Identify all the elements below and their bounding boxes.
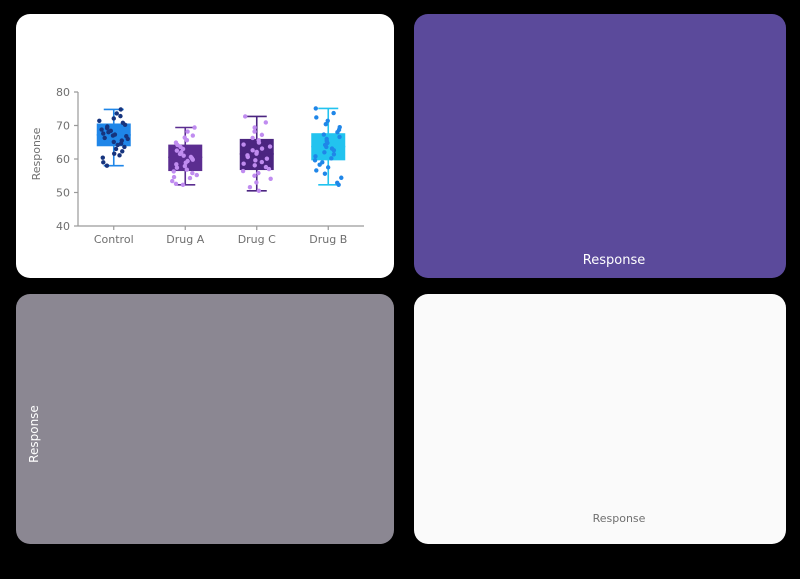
boxplot-data-point: [314, 115, 318, 119]
boxplot-data-point: [268, 177, 272, 181]
boxplot-data-point: [174, 182, 178, 186]
barplot-ylabel: Response: [27, 405, 41, 463]
boxplot-data-point: [331, 111, 335, 115]
boxplot-data-point: [185, 129, 189, 133]
boxplot-data-point: [170, 179, 174, 183]
boxplot-axes: 4050607080ControlDrug ADrug CDrug B: [56, 86, 364, 246]
boxplot-data-point: [260, 160, 264, 164]
boxplot-data-point: [174, 162, 178, 166]
boxplot-data-point: [188, 176, 192, 180]
boxplot-data-point: [124, 134, 128, 138]
boxplot-data-point: [241, 169, 245, 173]
boxplot-data-point: [120, 149, 124, 153]
boxplot-data-point: [101, 160, 105, 164]
boxplot-data-point: [190, 171, 194, 175]
boxplot-y-tick-label: 50: [56, 187, 70, 200]
boxplot-data-point: [314, 106, 318, 110]
boxplot-data-point: [264, 165, 268, 169]
panel-barplot: Response: [16, 294, 394, 544]
boxplot-data-point: [329, 156, 333, 160]
boxplot-data-point: [256, 138, 260, 142]
boxplot-y-tick-label: 40: [56, 220, 70, 233]
boxplot-data-point: [112, 151, 116, 155]
boxplot-data-point: [339, 176, 343, 180]
boxplot-data-point: [255, 150, 259, 154]
errorbar-svg: Response: [414, 14, 786, 278]
boxplot-data-point: [252, 129, 256, 133]
boxplot-data-point: [113, 132, 117, 136]
boxplot-data-point: [322, 132, 326, 136]
violin-svg: Response: [414, 294, 786, 544]
boxplot-body: [97, 106, 346, 193]
boxplot-data-point: [332, 152, 336, 156]
boxplot-data-point: [322, 150, 326, 154]
boxplot-data-point: [117, 153, 121, 157]
boxplot-data-point: [112, 116, 116, 120]
panel-boxplot: 4050607080ControlDrug ADrug CDrug B Resp…: [16, 14, 394, 278]
boxplot-data-point: [250, 148, 254, 152]
boxplot-data-point: [102, 136, 106, 140]
boxplot-data-point: [175, 148, 179, 152]
boxplot-data-point: [112, 140, 116, 144]
boxplot-data-point: [99, 127, 103, 131]
boxplot-data-point: [97, 119, 101, 123]
violin-xlabel: Response: [593, 512, 646, 525]
barplot-svg: Response: [16, 294, 394, 544]
boxplot-data-point: [181, 183, 185, 187]
boxplot-data-point: [101, 131, 105, 135]
boxplot-data-point: [323, 172, 327, 176]
boxplot-data-point: [313, 158, 317, 162]
boxplot-data-point: [260, 146, 264, 150]
boxplot-data-point: [245, 153, 249, 157]
boxplot-data-point: [268, 144, 272, 148]
errorbar-xlabel: Response: [583, 253, 645, 268]
panel-violin: Response: [414, 294, 786, 544]
boxplot-data-point: [330, 146, 334, 150]
boxplot-data-point: [121, 121, 125, 125]
boxplot-data-point: [241, 161, 245, 165]
panel-errorbar: Response: [414, 14, 786, 278]
boxplot-data-point: [252, 125, 256, 129]
boxplot-data-point: [120, 138, 124, 142]
boxplot-data-point: [115, 111, 119, 115]
boxplot-data-point: [335, 181, 339, 185]
boxplot-data-point: [122, 145, 126, 149]
boxplot-data-point: [191, 133, 195, 137]
boxplot-data-point: [253, 163, 257, 167]
boxplot-data-point: [252, 174, 256, 178]
boxplot-data-point: [338, 125, 342, 129]
boxplot-x-tick-label: Control: [94, 233, 134, 246]
boxplot-data-point: [118, 114, 122, 118]
boxplot-data-point: [326, 119, 330, 123]
boxplot-data-point: [253, 158, 257, 162]
boxplot-svg: 4050607080ControlDrug ADrug CDrug B Resp…: [16, 14, 394, 278]
boxplot-data-point: [172, 175, 176, 179]
boxplot-data-point: [189, 155, 193, 159]
boxplot-x-tick-label: Drug B: [309, 233, 347, 246]
boxplot-data-point: [326, 165, 330, 169]
boxplot-data-point: [105, 164, 109, 168]
boxplot-data-point: [172, 169, 176, 173]
boxplot-data-point: [314, 168, 318, 172]
boxplot-y-tick-label: 70: [56, 120, 70, 133]
boxplot-data-point: [248, 185, 252, 189]
boxplot-data-point: [324, 137, 328, 141]
boxplot-data-point: [256, 171, 260, 175]
boxplot-data-point: [264, 120, 268, 124]
boxplot-data-point: [337, 135, 341, 139]
boxplot-data-point: [320, 160, 324, 164]
boxplot-data-point: [183, 135, 187, 139]
boxplot-data-point: [101, 155, 105, 159]
figure-canvas: 4050607080ControlDrug ADrug CDrug B Resp…: [0, 0, 800, 579]
boxplot-data-point: [260, 133, 264, 137]
boxplot-y-tick-label: 80: [56, 86, 70, 99]
boxplot-data-point: [250, 136, 254, 140]
boxplot-data-point: [114, 147, 118, 151]
boxplot-data-point: [257, 189, 261, 193]
boxplot-data-point: [119, 107, 123, 111]
boxplot-ylabel: Response: [30, 127, 43, 180]
boxplot-data-point: [195, 173, 199, 177]
boxplot-data-point: [313, 154, 317, 158]
boxplot-y-tick-label: 60: [56, 153, 70, 166]
boxplot-data-point: [105, 124, 109, 128]
boxplot-data-point: [254, 180, 258, 184]
boxplot-x-tick-label: Drug C: [238, 233, 276, 246]
boxplot-data-point: [185, 159, 189, 163]
boxplot-data-point: [192, 125, 196, 129]
boxplot-data-point: [174, 140, 178, 144]
boxplot-data-point: [109, 129, 113, 133]
boxplot-data-point: [265, 156, 269, 160]
boxplot-data-point: [241, 142, 245, 146]
boxplot-x-tick-label: Drug A: [166, 233, 204, 246]
boxplot-data-point: [243, 114, 247, 118]
